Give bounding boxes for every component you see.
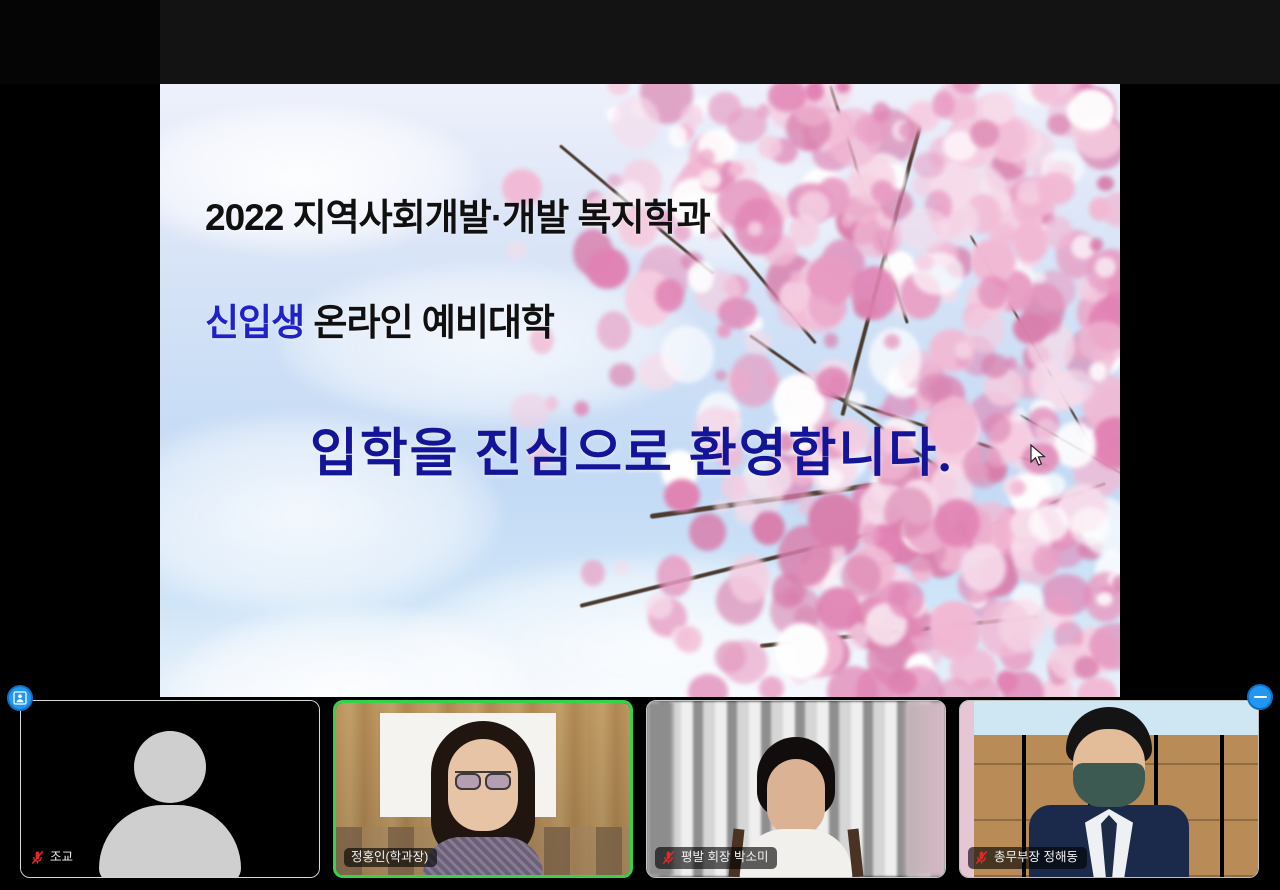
slide-title: 2022 지역사회개발·개발 복지학과 신입생 온라인 예비대학 — [205, 139, 845, 349]
blossom-petal-shape — [689, 513, 726, 551]
blossom-petal-shape — [999, 600, 1048, 653]
participant-name-badge: 정홍인(학과장) — [344, 848, 437, 868]
blossom-petal-shape — [884, 334, 900, 349]
blossom-petal-shape — [899, 121, 921, 140]
blossom-petal-shape — [808, 493, 860, 547]
blossom-petal-shape — [978, 276, 1007, 309]
blossom-petal-shape — [775, 623, 828, 679]
blossom-petal-shape — [574, 401, 589, 416]
participant-filmstrip: 조교 정홍인(학과장) — [0, 697, 1280, 890]
blossom-petal-shape — [1043, 216, 1073, 249]
blossom-petal-shape — [1089, 362, 1107, 382]
blossom-petal-shape — [1033, 272, 1046, 283]
blossom-petal-shape — [1112, 575, 1120, 592]
blossom-petal-shape — [871, 180, 894, 204]
slide-welcome-text: 입학을 진심으로 환영합니다. — [310, 424, 1120, 486]
shared-screen-area[interactable]: 2022 지역사회개발·개발 복지학과 신입생 온라인 예비대학 입학을 진심으… — [160, 84, 1120, 697]
blossom-petal-shape — [1074, 656, 1100, 680]
blossom-petal-shape — [934, 499, 980, 547]
blossom-petal-shape — [1090, 238, 1103, 252]
blossom-petal-shape — [729, 555, 770, 603]
blossom-petal-shape — [607, 84, 630, 95]
blossom-petal-shape — [930, 601, 981, 660]
participant-tile-active-speaker[interactable]: 정홍인(학과장) — [333, 700, 633, 878]
blossom-petal-shape — [932, 91, 955, 119]
blossom-petal-shape — [615, 559, 630, 575]
blossom-petal-shape — [841, 555, 881, 596]
participant-name-badge: 조교 — [29, 847, 82, 869]
blossom-petal-shape — [915, 254, 933, 271]
blossom-petal-shape — [1053, 369, 1094, 405]
blossom-petal-shape — [854, 299, 878, 319]
blossom-petal-shape — [1041, 574, 1091, 617]
blossom-petal-shape — [1013, 313, 1049, 344]
blossom-petal-shape — [714, 500, 729, 513]
blossom-petal-shape — [816, 367, 850, 399]
top-background-band — [0, 0, 1280, 84]
blossom-petal-shape — [846, 390, 866, 407]
background-edge-shape — [905, 701, 945, 877]
blossom-petal-shape — [646, 593, 673, 619]
blossom-petal-shape — [681, 104, 703, 128]
blossom-petal-shape — [884, 487, 933, 537]
blossom-petal-shape — [734, 499, 756, 525]
blossom-petal-shape — [1095, 257, 1116, 278]
blossom-petal-shape — [581, 560, 605, 586]
gallery-view-button[interactable] — [7, 685, 33, 711]
blossom-petal-shape — [1078, 321, 1120, 362]
participant-name-badge: 총무부장 정해동 — [968, 847, 1087, 869]
blossom-petal-shape — [1089, 197, 1110, 221]
blossom-petal-shape — [1047, 114, 1071, 135]
blossom-petal-shape — [1097, 176, 1114, 191]
glasses-shape — [455, 771, 511, 785]
minimize-button[interactable] — [1247, 684, 1273, 710]
blossom-petal-shape — [759, 676, 785, 698]
blossom-petal-shape — [876, 406, 890, 417]
blossom-petal-shape — [1070, 507, 1111, 546]
person-face-shape — [767, 759, 825, 835]
top-left-background-band — [0, 0, 160, 84]
participant-name-badge: 평발 회장 박소미 — [655, 847, 777, 869]
blossom-petal-shape — [730, 353, 778, 408]
blossom-petal-shape — [722, 640, 768, 684]
participant-tile[interactable]: 조교 — [20, 700, 320, 878]
participant-frame-icon — [13, 691, 27, 705]
microphone-muted-icon — [31, 850, 44, 865]
blossom-petal-shape — [913, 152, 945, 178]
slide-title-highlight: 신입생 — [205, 302, 304, 343]
blossom-petal-shape — [918, 374, 951, 402]
blossom-petal-shape — [899, 208, 951, 251]
face-mask-shape — [1073, 763, 1145, 807]
blossom-petal-shape — [888, 581, 924, 618]
participant-name: 조교 — [50, 851, 73, 864]
microphone-muted-icon — [662, 850, 675, 865]
participant-tile[interactable]: 평발 회장 박소미 — [646, 700, 946, 878]
participant-name: 총무부장 정해동 — [994, 851, 1078, 864]
blossom-petal-shape — [757, 104, 770, 119]
minus-icon — [1254, 696, 1267, 699]
blossom-petal-shape — [1077, 677, 1116, 697]
blossom-petal-shape — [715, 370, 727, 381]
slide-title-line2-rest: 온라인 예비대학 — [304, 302, 554, 343]
blossom-petal-shape — [981, 354, 1009, 377]
blossom-petal-shape — [676, 626, 702, 654]
person-clothing-shape — [423, 837, 543, 875]
blossom-petal-shape — [752, 511, 785, 545]
blossom-petal-shape — [657, 555, 693, 597]
mouse-cursor — [1030, 444, 1048, 468]
avatar-head-icon — [134, 731, 206, 803]
slide-title-line1: 2022 지역사회개발·개발 복지학과 — [205, 197, 710, 238]
microphone-muted-icon — [975, 850, 988, 865]
blossom-petal-shape — [1037, 172, 1075, 205]
video-conference-window: 2022 지역사회개발·개발 복지학과 신입생 온라인 예비대학 입학을 진심으… — [0, 0, 1280, 890]
avatar-body-icon — [99, 805, 241, 878]
blossom-petal-shape — [1032, 546, 1060, 575]
participant-name: 정홍인(학과장) — [351, 851, 428, 864]
blossom-petal-shape — [609, 363, 636, 387]
participant-tile[interactable]: 총무부장 정해동 — [959, 700, 1259, 878]
participant-name: 평발 회장 박소미 — [681, 851, 768, 864]
blossom-petal-shape — [1011, 407, 1027, 422]
blossom-petal-shape — [964, 306, 1005, 353]
blossom-petal-shape — [688, 674, 728, 697]
